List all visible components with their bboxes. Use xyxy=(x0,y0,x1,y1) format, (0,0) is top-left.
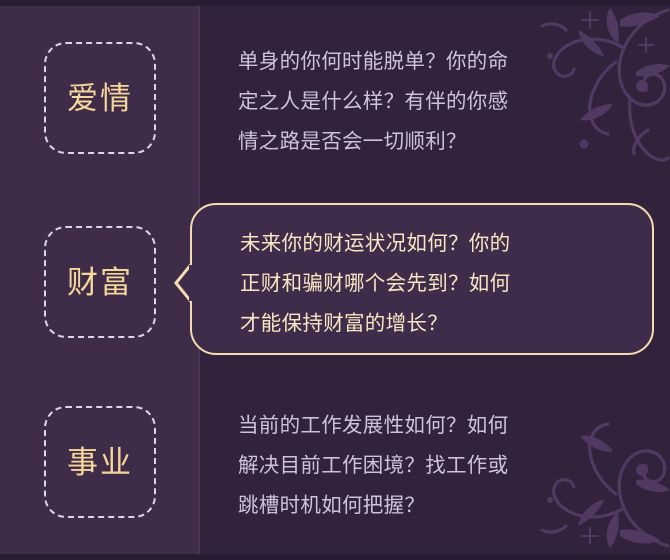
description-love: 单身的你何时能脱单？你的命 定之人是什么样？有伴的你感 情之路是否会一切顺利？ xyxy=(238,42,578,162)
top-band xyxy=(0,0,670,6)
description-line: 单身的你何时能脱单？你的命 xyxy=(238,42,578,82)
description-line: 才能保持财富的增长？ xyxy=(240,304,595,344)
description-career: 当前的工作发展性如何？如何 解决目前工作困境？找工作或 跳槽时机如何把握？ xyxy=(238,406,578,526)
category-chip-career[interactable]: 事业 xyxy=(44,406,156,518)
description-line: 正财和骗财哪个会先到？如何 xyxy=(240,264,595,304)
bottom-band xyxy=(0,554,670,560)
description-line: 未来你的财运状况如何？你的 xyxy=(240,224,595,264)
bubble-pointer-notch xyxy=(189,265,193,301)
description-line: 跳槽时机如何把握？ xyxy=(238,486,578,526)
category-chip-label: 爱情 xyxy=(67,83,133,114)
fortune-topics-screen: 爱情 财富 事业 单身的你何时能脱单？你的命 定之人是什么样？有伴的你感 情之路… xyxy=(0,0,670,560)
category-chip-label: 事业 xyxy=(67,447,133,478)
category-chip-label: 财富 xyxy=(67,267,133,298)
description-line: 当前的工作发展性如何？如何 xyxy=(238,406,578,446)
description-line: 解决目前工作困境？找工作或 xyxy=(238,446,578,486)
category-chip-love[interactable]: 爱情 xyxy=(44,42,156,154)
highlighted-bubble-wealth[interactable]: 未来你的财运状况如何？你的 正财和骗财哪个会先到？如何 才能保持财富的增长？ xyxy=(190,203,654,355)
description-line: 定之人是什么样？有伴的你感 xyxy=(238,82,578,122)
description-line: 情之路是否会一切顺利？ xyxy=(238,122,578,162)
bubble-text: 未来你的财运状况如何？你的 正财和骗财哪个会先到？如何 才能保持财富的增长？ xyxy=(240,224,595,344)
category-chip-wealth[interactable]: 财富 xyxy=(44,226,156,338)
